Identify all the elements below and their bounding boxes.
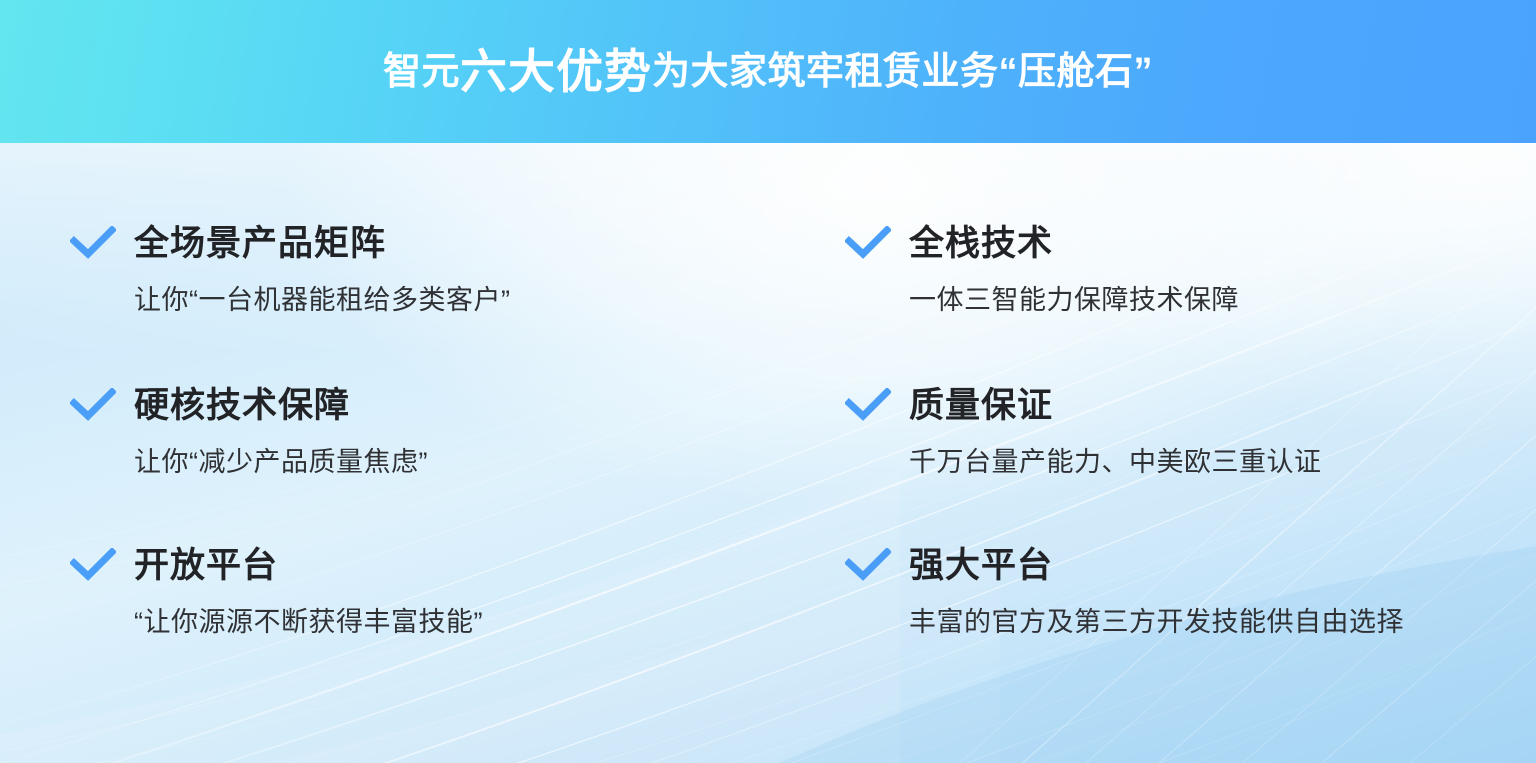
feature-title: 开放平台 <box>134 548 278 583</box>
check-icon <box>70 388 116 422</box>
feature-head: 质量保证 <box>845 383 1322 427</box>
check-icon <box>845 226 891 260</box>
page-title: 智元六大优势为大家筑牢租赁业务“压舱石” <box>0 0 1536 143</box>
feature-column-right: 全栈技术 一体三智能力保障技术保障 质量保证 千万台量产能力、中美欧三重认证 <box>845 143 1525 763</box>
check-icon <box>845 548 891 582</box>
title-segment-1: 智元 <box>383 53 460 91</box>
feature-column-left: 全场景产品矩阵 让你“一台机器能租给多类客户” 硬核技术保障 让你“减少产品质量… <box>70 143 790 763</box>
header-band: 智元六大优势为大家筑牢租赁业务“压舱石” <box>0 0 1536 143</box>
feature-subtitle: 丰富的官方及第三方开发技能供自由选择 <box>909 606 1404 638</box>
feature-title: 质量保证 <box>909 388 1053 423</box>
feature-head: 强大平台 <box>845 543 1404 587</box>
feature-subtitle: 让你“一台机器能租给多类客户” <box>134 284 510 316</box>
feature-grid: 全场景产品矩阵 让你“一台机器能租给多类客户” 硬核技术保障 让你“减少产品质量… <box>0 143 1536 763</box>
feature-item[interactable]: 全场景产品矩阵 让你“一台机器能租给多类客户” <box>70 221 510 316</box>
feature-item[interactable]: 质量保证 千万台量产能力、中美欧三重认证 <box>845 383 1322 478</box>
check-icon <box>70 226 116 260</box>
feature-item[interactable]: 全栈技术 一体三智能力保障技术保障 <box>845 221 1239 316</box>
title-segment-emphasis: 六大优势 <box>460 48 652 95</box>
feature-subtitle: “让你源源不断获得丰富技能” <box>134 606 483 638</box>
feature-item[interactable]: 强大平台 丰富的官方及第三方开发技能供自由选择 <box>845 543 1404 638</box>
slide-root: 智元六大优势为大家筑牢租赁业务“压舱石” <box>0 0 1536 763</box>
feature-subtitle: 一体三智能力保障技术保障 <box>909 284 1239 316</box>
feature-title: 硬核技术保障 <box>134 388 350 423</box>
feature-head: 全场景产品矩阵 <box>70 221 510 265</box>
title-segment-3: 为大家筑牢租赁业务“压舱石” <box>652 53 1153 91</box>
feature-title: 强大平台 <box>909 548 1053 583</box>
feature-subtitle: 让你“减少产品质量焦虑” <box>134 446 428 478</box>
feature-title: 全栈技术 <box>909 226 1053 261</box>
feature-item[interactable]: 硬核技术保障 让你“减少产品质量焦虑” <box>70 383 428 478</box>
check-icon <box>70 548 116 582</box>
feature-head: 开放平台 <box>70 543 483 587</box>
feature-subtitle: 千万台量产能力、中美欧三重认证 <box>909 446 1322 478</box>
feature-head: 全栈技术 <box>845 221 1239 265</box>
check-icon <box>845 388 891 422</box>
feature-title: 全场景产品矩阵 <box>134 226 386 261</box>
feature-head: 硬核技术保障 <box>70 383 428 427</box>
feature-item[interactable]: 开放平台 “让你源源不断获得丰富技能” <box>70 543 483 638</box>
